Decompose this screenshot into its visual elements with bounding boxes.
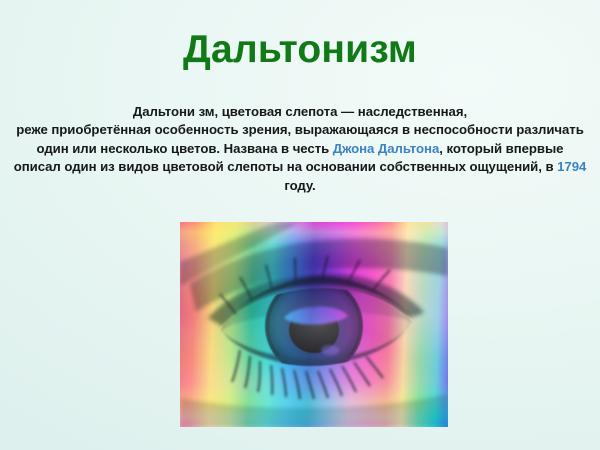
body-text: описал один из видов цветовой слепоты на… <box>14 159 557 174</box>
body-text: году. <box>284 178 315 193</box>
body-link-text[interactable]: 1794 <box>557 159 586 174</box>
eye-illustration <box>180 222 448 427</box>
title-block: Дальтонизм <box>0 30 600 71</box>
body-link-text[interactable]: Джона Дальтона <box>333 141 439 156</box>
body-text: , который впервые <box>439 141 563 156</box>
body-text: Дальтони зм, цветовая слепота — наследст… <box>133 104 467 119</box>
rainbow-eye-photo <box>180 222 448 427</box>
body-line: году. <box>12 177 588 195</box>
body-paragraph: Дальтони зм, цветовая слепота — наследст… <box>12 103 588 195</box>
body-text: один или несколько цветов. Названа в чес… <box>37 141 333 156</box>
slide-canvas: Дальтонизм Дальтони зм, цветовая слепота… <box>0 0 600 450</box>
body-line: один или несколько цветов. Названа в чес… <box>12 140 588 158</box>
body-line: реже приобретённая особенность зрения, в… <box>12 121 588 139</box>
body-line: описал один из видов цветовой слепоты на… <box>12 158 588 176</box>
page-title: Дальтонизм <box>183 30 417 71</box>
body-line: Дальтони зм, цветовая слепота — наследст… <box>12 103 588 121</box>
body-text: реже приобретённая особенность зрения, в… <box>16 122 584 137</box>
